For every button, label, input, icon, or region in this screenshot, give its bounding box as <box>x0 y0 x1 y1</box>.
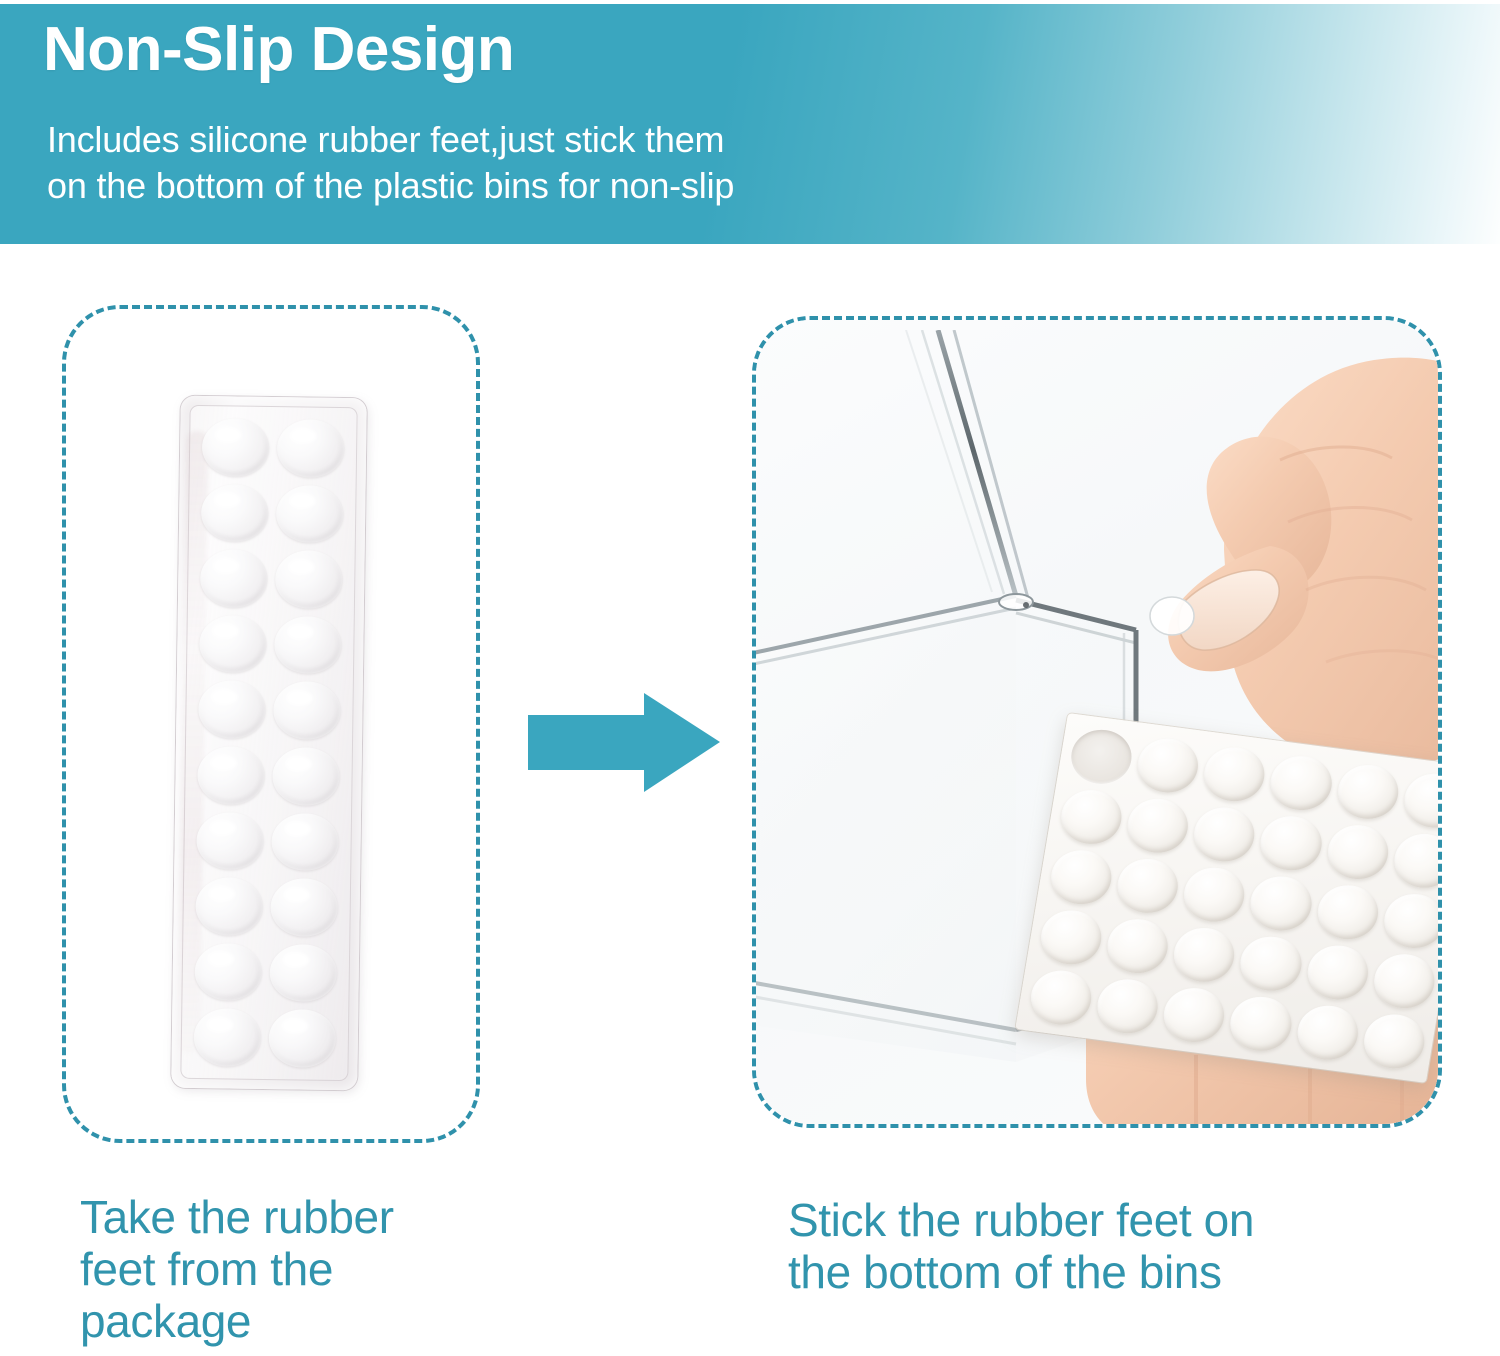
rubber-foot-dome <box>268 1009 336 1068</box>
rubber-foot-dome <box>275 550 343 609</box>
blister-pack <box>171 396 367 1091</box>
rubber-foot-dome <box>1227 993 1296 1054</box>
rubber-foot-dome <box>200 549 268 608</box>
blister-pack-dome-grid <box>188 413 349 1073</box>
rubber-foot-dome <box>1134 735 1203 796</box>
rubber-foot-dome <box>1114 855 1183 916</box>
rubber-foot-dome <box>1170 924 1239 985</box>
rubber-foot-dome <box>271 813 339 872</box>
rubber-foot-dome <box>1027 967 1096 1028</box>
rubber-foot-dome <box>270 878 338 937</box>
rubber-foot-dome <box>198 680 266 739</box>
rubber-foot-dome <box>1380 890 1438 951</box>
step-1-image <box>66 309 476 1139</box>
rubber-foot-dome <box>1247 873 1316 934</box>
infographic-page: Non-Slip Design Includes silicone rubber… <box>0 0 1500 1356</box>
rubber-foot-dome <box>1047 847 1116 908</box>
step-2-panel <box>752 316 1442 1128</box>
banner-subtitle: Includes silicone rubber feet,just stick… <box>47 117 734 209</box>
rubber-foot-dome <box>1303 942 1372 1003</box>
rubber-foot-dome <box>1057 786 1126 847</box>
rubber-foot-dome <box>193 1008 261 1067</box>
rubber-foot-dome <box>196 812 264 871</box>
arrow-right-icon <box>528 693 720 793</box>
header-banner: Non-Slip Design Includes silicone rubber… <box>0 4 1500 244</box>
page-title: Non-Slip Design <box>43 17 514 82</box>
rubber-foot-dome <box>1267 753 1336 814</box>
rubber-foot-empty-slot <box>1067 726 1136 787</box>
rubber-foot-dome <box>1257 813 1326 874</box>
rubber-foot-dome <box>199 615 267 674</box>
rubber-foot-dome <box>1237 933 1306 994</box>
rubber-foot-dome <box>273 681 341 740</box>
rubber-foot-dome <box>1400 770 1438 831</box>
step-2-image <box>756 320 1438 1124</box>
rubber-foot-dome <box>1093 976 1162 1037</box>
rubber-foot-dome <box>194 943 262 1002</box>
step-1-caption: Take the rubber feet from the package <box>80 1192 510 1348</box>
rubber-foot-dome <box>272 747 340 806</box>
step-1-panel <box>62 305 480 1143</box>
rubber-foot-dome <box>1037 907 1106 968</box>
rubber-foot-dome <box>1104 916 1173 977</box>
step-2-caption: Stick the rubber feet on the bottom of t… <box>788 1195 1448 1299</box>
rubber-foot-dome <box>1160 985 1229 1046</box>
rubber-foot-dome <box>202 418 270 477</box>
rubber-foot-dome <box>195 877 263 936</box>
rubber-foot-dome <box>277 419 345 478</box>
rubber-foot-dome <box>269 944 337 1003</box>
rubber-foot-dome <box>1334 761 1403 822</box>
rubber-foot-dome <box>1360 1011 1429 1072</box>
rubber-foot-dome <box>274 616 342 675</box>
rubber-foot-dome <box>1200 744 1269 805</box>
next-step-arrow <box>528 693 720 793</box>
rubber-foot-dome <box>1293 1002 1362 1063</box>
rubber-foot-dome <box>1323 821 1392 882</box>
rubber-foot-dome <box>1190 804 1259 865</box>
rubber-foot-dome <box>197 746 265 805</box>
rubber-foot-dome <box>1390 830 1438 891</box>
rubber-foot-dome <box>201 484 269 543</box>
rubber-feet-dome-grid <box>1025 724 1438 1074</box>
white-rubber-feet-sheet <box>1015 713 1438 1083</box>
rubber-foot-dome <box>1313 882 1382 943</box>
rubber-foot-dome <box>1370 951 1438 1012</box>
rubber-foot-dome <box>276 485 344 544</box>
rubber-foot-dome <box>1124 795 1193 856</box>
rubber-foot-dome <box>1180 864 1249 925</box>
